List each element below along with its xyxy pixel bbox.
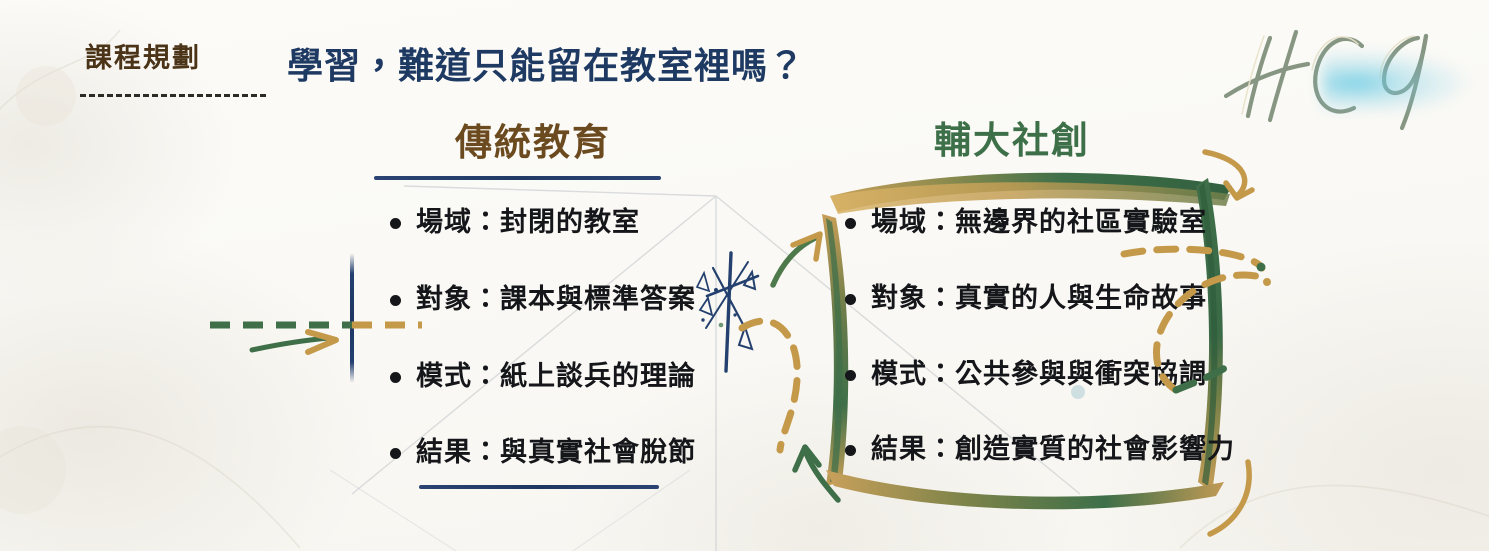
list-item-label: 結果：與真實社會脫節 bbox=[416, 436, 696, 470]
list-item: 對象：課本與標準答案 bbox=[390, 283, 696, 317]
list-item: 對象：真實的人與生命故事 bbox=[845, 282, 1235, 316]
bullet-dot-icon bbox=[845, 445, 856, 456]
list-item-label: 場域：封閉的教室 bbox=[416, 206, 640, 240]
bullet-dot-icon bbox=[390, 372, 401, 383]
gold-dashed-curve bbox=[742, 321, 797, 450]
column-heading-fju: 輔大社創 bbox=[934, 110, 1090, 164]
list-item-label: 模式：公共參與與衝突協調 bbox=[871, 358, 1207, 392]
gold-dot-right bbox=[1263, 278, 1271, 286]
bullet-dot-icon bbox=[390, 295, 401, 306]
bullet-dot-icon bbox=[390, 218, 401, 229]
navy-sparkle-icon bbox=[697, 253, 758, 371]
list-item: 模式：公共參與與衝突協調 bbox=[845, 358, 1235, 392]
green-dot-right bbox=[1257, 263, 1266, 272]
traditional-left-vertical-rule bbox=[350, 253, 354, 383]
list-item: 場域：無邊界的社區實驗室 bbox=[845, 206, 1235, 240]
slide-canvas: 課程規劃 學習，難道只能留在教室裡嗎？ 傳統教育 bbox=[0, 0, 1489, 551]
column-heading-traditional: 傳統教育 bbox=[455, 112, 611, 166]
list-item-label: 對象：課本與標準答案 bbox=[416, 283, 696, 317]
fju-bullet-list: 場域：無邊界的社區實驗室 對象：真實的人與生命故事 模式：公共參與與衝突協調 結… bbox=[845, 206, 1235, 509]
green-up-arrow-icon bbox=[795, 447, 838, 500]
list-item: 場域：封閉的教室 bbox=[390, 206, 696, 240]
page-title: 學習，難道只能留在教室裡嗎？ bbox=[287, 37, 805, 89]
list-item-label: 結果：創造實質的社會影響力 bbox=[871, 433, 1235, 467]
bullet-dot-icon bbox=[390, 448, 401, 459]
list-item-label: 對象：真實的人與生命故事 bbox=[871, 282, 1207, 316]
kicker-divider bbox=[80, 94, 266, 97]
list-item-label: 模式：紙上談兵的理論 bbox=[416, 360, 696, 394]
bullet-dot-icon bbox=[845, 218, 856, 229]
bullet-dot-icon bbox=[845, 294, 856, 305]
bullet-dot-icon bbox=[845, 370, 856, 381]
traditional-heading-underline bbox=[374, 176, 661, 180]
list-item: 結果：創造實質的社會影響力 bbox=[845, 433, 1235, 467]
page-kicker: 課程規劃 bbox=[85, 36, 201, 75]
traditional-bottom-rule bbox=[419, 485, 659, 489]
list-item: 結果：與真實社會脫節 bbox=[390, 436, 696, 470]
watermark-glow bbox=[1322, 50, 1472, 110]
hca-watermark bbox=[1212, 16, 1462, 128]
list-item: 模式：紙上談兵的理論 bbox=[390, 360, 696, 394]
list-item-label: 場域：無邊界的社區實驗室 bbox=[871, 206, 1207, 240]
traditional-bullet-list: 場域：封閉的教室 對象：課本與標準答案 模式：紙上談兵的理論 結果：與真實社會脫… bbox=[390, 206, 696, 470]
gold-arc-top-right-icon bbox=[1205, 152, 1252, 198]
center-curve-arrow-icon bbox=[773, 234, 820, 285]
